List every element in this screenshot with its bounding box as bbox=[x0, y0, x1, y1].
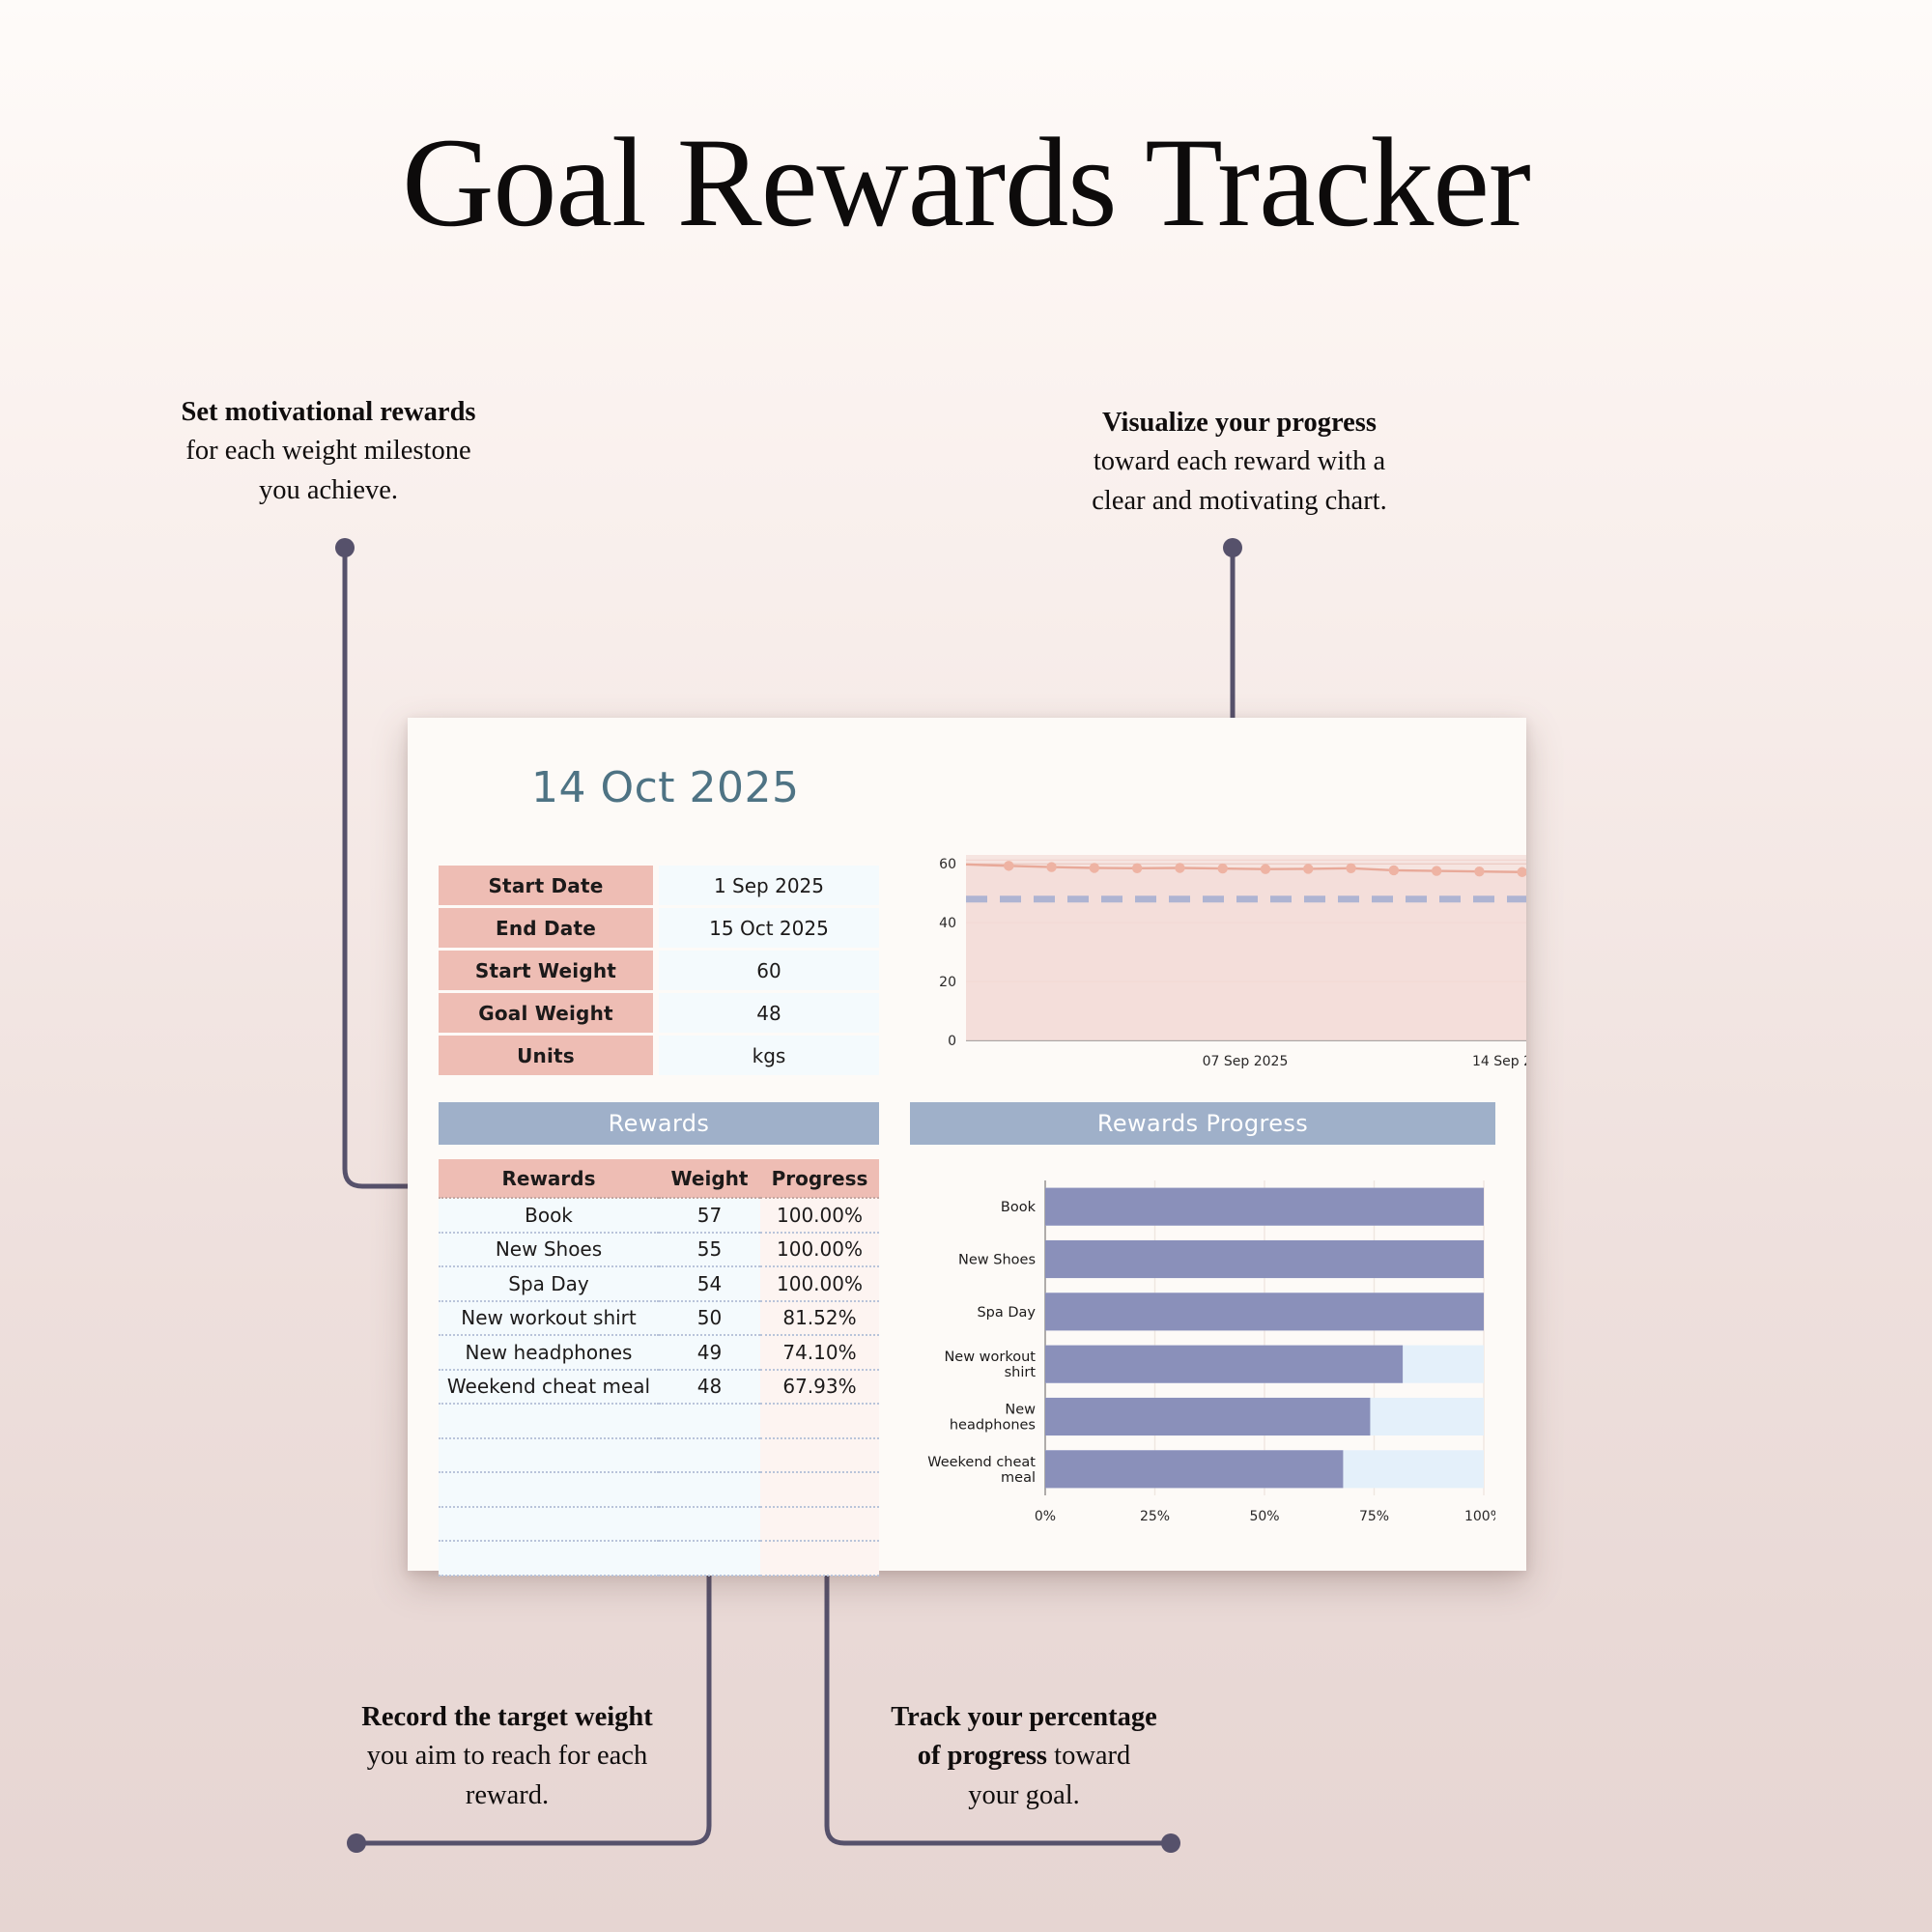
cell-empty[interactable] bbox=[659, 1472, 760, 1507]
table-row: New Shoes 55 100.00% bbox=[439, 1233, 879, 1267]
bar-category-label: New bbox=[1005, 1403, 1036, 1418]
progress-bar-fill bbox=[1045, 1293, 1484, 1330]
info-value-units[interactable]: kgs bbox=[659, 1036, 879, 1075]
rewards-table-body: Book 57 100.00% New Shoes 55 100.00% Spa… bbox=[439, 1198, 879, 1576]
cell-reward-name[interactable]: Book bbox=[439, 1198, 659, 1233]
table-row-empty bbox=[439, 1541, 879, 1576]
annotation-track-progress-line1: your goal. bbox=[811, 1776, 1236, 1815]
table-row: Book 57 100.00% bbox=[439, 1198, 879, 1233]
x-axis-tick-label: 14 Sep 2 bbox=[1472, 1054, 1526, 1069]
info-value-start-weight[interactable]: 60 bbox=[659, 951, 879, 990]
bar-category-label: New Shoes bbox=[958, 1253, 1036, 1268]
y-axis-tick-label: 40 bbox=[939, 916, 956, 931]
weight-data-point bbox=[1046, 862, 1056, 871]
table-row-empty bbox=[439, 1507, 879, 1542]
table-row-empty bbox=[439, 1404, 879, 1438]
bar-category-label: headphones bbox=[950, 1418, 1036, 1434]
y-axis-tick-label: 0 bbox=[948, 1034, 956, 1049]
annotation-track-progress: Track your percentage of progress toward… bbox=[811, 1698, 1236, 1815]
cell-reward-progress: 100.00% bbox=[760, 1198, 879, 1233]
table-row: New workout shirt 50 81.52% bbox=[439, 1301, 879, 1336]
cell-empty bbox=[760, 1438, 879, 1473]
column-header-progress: Progress bbox=[760, 1159, 879, 1198]
info-value-goal-weight[interactable]: 48 bbox=[659, 993, 879, 1033]
info-value-end-date[interactable]: 15 Oct 2025 bbox=[659, 908, 879, 948]
table-row: Weekend cheat meal 48 67.93% bbox=[439, 1370, 879, 1405]
info-label-end-date: End Date bbox=[439, 908, 653, 948]
cell-empty[interactable] bbox=[439, 1507, 659, 1542]
cell-empty bbox=[760, 1404, 879, 1438]
annotation-set-rewards-line1: for each weight milestone bbox=[116, 432, 541, 470]
progress-bar-fill bbox=[1045, 1398, 1370, 1435]
cell-empty bbox=[760, 1541, 879, 1576]
x-axis-tick-label: 50% bbox=[1249, 1509, 1279, 1524]
cell-reward-weight[interactable]: 54 bbox=[659, 1266, 760, 1301]
annotation-track-progress-tail: toward bbox=[1047, 1741, 1130, 1771]
cell-reward-name[interactable]: New Shoes bbox=[439, 1233, 659, 1267]
progress-bar-fill bbox=[1045, 1240, 1484, 1278]
cell-empty[interactable] bbox=[659, 1438, 760, 1473]
weight-data-point bbox=[1303, 864, 1313, 873]
annotation-record-weight: Record the target weight you aim to reac… bbox=[290, 1698, 724, 1815]
weight-data-point bbox=[1389, 866, 1399, 875]
cell-empty bbox=[760, 1472, 879, 1507]
cell-reward-progress: 67.93% bbox=[760, 1370, 879, 1405]
annotation-record-weight-line2: reward. bbox=[290, 1776, 724, 1815]
bar-category-label: shirt bbox=[1005, 1365, 1037, 1380]
cell-empty[interactable] bbox=[439, 1438, 659, 1473]
x-axis-tick-label: 0% bbox=[1035, 1509, 1056, 1524]
info-label-start-date: Start Date bbox=[439, 866, 653, 905]
progress-bar-fill bbox=[1045, 1346, 1403, 1383]
section-header-rewards-progress: Rewards Progress bbox=[910, 1102, 1495, 1145]
table-row: Units kgs bbox=[439, 1036, 879, 1075]
info-label-goal-weight: Goal Weight bbox=[439, 993, 653, 1033]
weight-data-point bbox=[1090, 863, 1099, 872]
annotation-record-weight-bold: Record the target weight bbox=[361, 1702, 653, 1732]
annotation-track-progress-bold2: of progress bbox=[918, 1741, 1047, 1771]
weight-data-point bbox=[1261, 865, 1270, 874]
cell-reward-weight[interactable]: 50 bbox=[659, 1301, 760, 1336]
annotation-visualize-progress: Visualize your progress toward each rewa… bbox=[1022, 404, 1457, 521]
cell-empty[interactable] bbox=[659, 1507, 760, 1542]
cell-reward-progress: 100.00% bbox=[760, 1233, 879, 1267]
table-row: Start Date 1 Sep 2025 bbox=[439, 866, 879, 905]
sheet-date-heading: 14 Oct 2025 bbox=[531, 763, 800, 812]
column-header-weight: Weight bbox=[659, 1159, 760, 1198]
page-title: Goal Rewards Tracker bbox=[0, 114, 1932, 252]
annotation-track-progress-bold: Track your percentage bbox=[891, 1702, 1156, 1732]
cell-reward-progress: 74.10% bbox=[760, 1335, 879, 1370]
annotation-set-rewards-bold: Set motivational rewards bbox=[181, 397, 475, 427]
bar-category-label: Book bbox=[1001, 1200, 1037, 1215]
bar-category-label: meal bbox=[1001, 1470, 1036, 1486]
table-row-empty bbox=[439, 1438, 879, 1473]
progress-bar-fill bbox=[1045, 1188, 1484, 1226]
weight-data-point bbox=[1346, 864, 1355, 873]
cell-reward-name[interactable]: New headphones bbox=[439, 1335, 659, 1370]
weight-data-point bbox=[1474, 867, 1484, 876]
rewards-table: Rewards Weight Progress Book 57 100.00% … bbox=[439, 1159, 879, 1577]
column-header-rewards: Rewards bbox=[439, 1159, 659, 1198]
annotation-visualize-progress-line1: toward each reward with a bbox=[1022, 442, 1457, 481]
weight-line-chart: 020406007 Sep 202514 Sep 2 bbox=[910, 836, 1526, 1077]
table-row-empty bbox=[439, 1472, 879, 1507]
section-header-rewards: Rewards bbox=[439, 1102, 879, 1145]
weight-data-point bbox=[1218, 864, 1228, 873]
connector-dot-track-progress-end bbox=[1161, 1833, 1180, 1853]
weight-data-point bbox=[1132, 864, 1142, 873]
annotation-visualize-progress-line2: clear and motivating chart. bbox=[1022, 482, 1457, 521]
table-row: Goal Weight 48 bbox=[439, 993, 879, 1033]
cell-reward-weight[interactable]: 55 bbox=[659, 1233, 760, 1267]
cell-reward-name[interactable]: New workout shirt bbox=[439, 1301, 659, 1336]
cell-empty[interactable] bbox=[439, 1404, 659, 1438]
bar-category-label: Spa Day bbox=[977, 1305, 1036, 1321]
connector-dot-visualize-start bbox=[1223, 538, 1242, 557]
cell-reward-weight[interactable]: 57 bbox=[659, 1198, 760, 1233]
rewards-progress-bar-chart: BookNew ShoesSpa DayNew workoutshirtNewh… bbox=[910, 1167, 1495, 1548]
cell-reward-name[interactable]: Spa Day bbox=[439, 1266, 659, 1301]
bar-category-label: Weekend cheat bbox=[927, 1455, 1036, 1470]
cell-empty[interactable] bbox=[659, 1541, 760, 1576]
x-axis-tick-label: 100% bbox=[1464, 1509, 1495, 1524]
annotation-set-rewards-line2: you achieve. bbox=[116, 471, 541, 510]
weight-data-point bbox=[1432, 866, 1441, 875]
info-value-start-date[interactable]: 1 Sep 2025 bbox=[659, 866, 879, 905]
info-label-units: Units bbox=[439, 1036, 653, 1075]
annotation-record-weight-line1: you aim to reach for each bbox=[290, 1737, 724, 1776]
cell-empty[interactable] bbox=[439, 1541, 659, 1576]
y-axis-tick-label: 60 bbox=[939, 857, 956, 872]
cell-reward-name[interactable]: Weekend cheat meal bbox=[439, 1370, 659, 1405]
x-axis-tick-label: 25% bbox=[1140, 1509, 1170, 1524]
y-axis-tick-label: 20 bbox=[939, 975, 956, 990]
cell-empty[interactable] bbox=[659, 1404, 760, 1438]
cell-empty[interactable] bbox=[439, 1472, 659, 1507]
table-row: Spa Day 54 100.00% bbox=[439, 1266, 879, 1301]
spreadsheet-card: 14 Oct 2025 Start Date 1 Sep 2025 End Da… bbox=[408, 718, 1526, 1571]
cell-reward-weight[interactable]: 49 bbox=[659, 1335, 760, 1370]
cell-reward-progress: 81.52% bbox=[760, 1301, 879, 1336]
connector-dot-set-rewards-start bbox=[335, 538, 355, 557]
cell-empty bbox=[760, 1507, 879, 1542]
info-label-start-weight: Start Weight bbox=[439, 951, 653, 990]
table-row: End Date 15 Oct 2025 bbox=[439, 908, 879, 948]
annotation-set-rewards: Set motivational rewards for each weight… bbox=[116, 393, 541, 510]
cell-reward-progress: 100.00% bbox=[760, 1266, 879, 1301]
weight-data-point bbox=[1175, 863, 1184, 872]
table-row: New headphones 49 74.10% bbox=[439, 1335, 879, 1370]
x-axis-tick-label: 07 Sep 2025 bbox=[1203, 1054, 1289, 1069]
cell-reward-weight[interactable]: 48 bbox=[659, 1370, 760, 1405]
table-row: Start Weight 60 bbox=[439, 951, 879, 990]
annotation-visualize-progress-bold: Visualize your progress bbox=[1102, 408, 1377, 438]
bar-category-label: New workout bbox=[944, 1350, 1036, 1365]
table-header-row: Rewards Weight Progress bbox=[439, 1159, 879, 1198]
connector-dot-record-weight-end bbox=[347, 1833, 366, 1853]
weight-data-point bbox=[1004, 861, 1013, 870]
progress-bar-fill bbox=[1045, 1450, 1343, 1488]
goal-info-table: Start Date 1 Sep 2025 End Date 15 Oct 20… bbox=[439, 863, 879, 1078]
x-axis-tick-label: 75% bbox=[1359, 1509, 1389, 1524]
